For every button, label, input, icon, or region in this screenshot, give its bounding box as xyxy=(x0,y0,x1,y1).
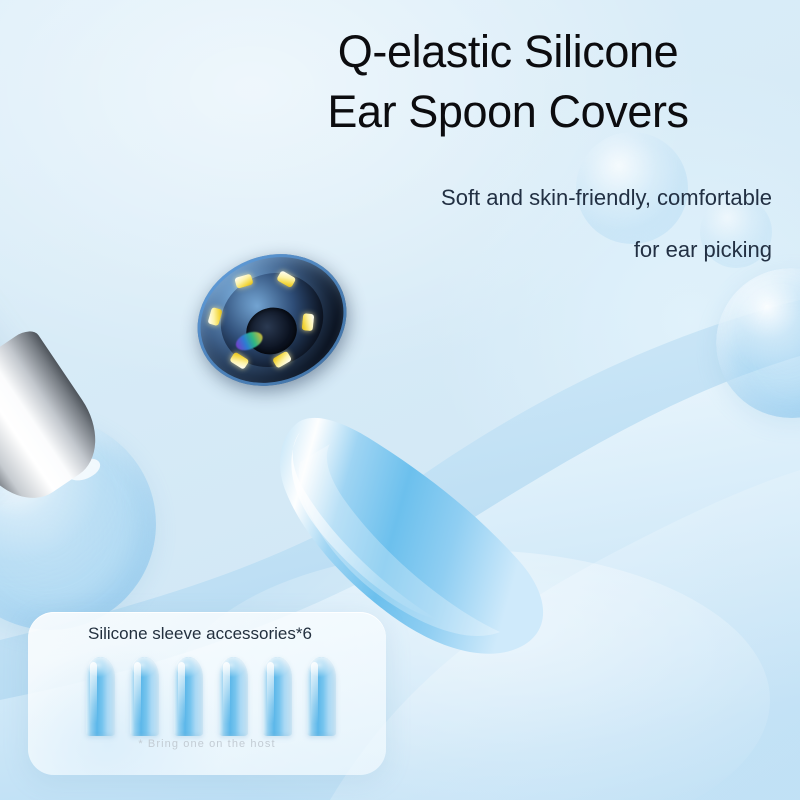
subhead-line-2: for ear picking xyxy=(242,224,772,276)
silicone-caps-row xyxy=(86,657,336,739)
subhead-line-1: Soft and skin-friendly, comfortable xyxy=(441,185,772,210)
page-title: Q-elastic Silicone Ear Spoon Covers xyxy=(248,22,768,142)
accessories-card-title: Silicone sleeve accessories*6 xyxy=(88,624,312,644)
accessories-card-note: * Bring one on the host xyxy=(28,738,386,750)
page-subtitle: Soft and skin-friendly, comfortable for … xyxy=(242,172,772,276)
silicone-cap-2 xyxy=(130,657,159,736)
silicone-cap-6 xyxy=(307,657,336,736)
silicone-cap-4 xyxy=(219,657,248,736)
led-light-3 xyxy=(302,313,315,331)
silicone-cap-5 xyxy=(263,657,292,736)
product-marketing-banner: Q-elastic Silicone Ear Spoon Covers Soft… xyxy=(0,0,800,800)
headline-line-2: Ear Spoon Covers xyxy=(248,82,768,142)
headline-line-1: Q-elastic Silicone xyxy=(338,26,678,77)
accessories-card: Silicone sleeve accessories*6 * Bring on… xyxy=(28,612,386,775)
bubble-right-edge xyxy=(716,268,800,418)
silicone-cap-3 xyxy=(174,657,203,736)
silicone-cap-1 xyxy=(86,657,115,736)
